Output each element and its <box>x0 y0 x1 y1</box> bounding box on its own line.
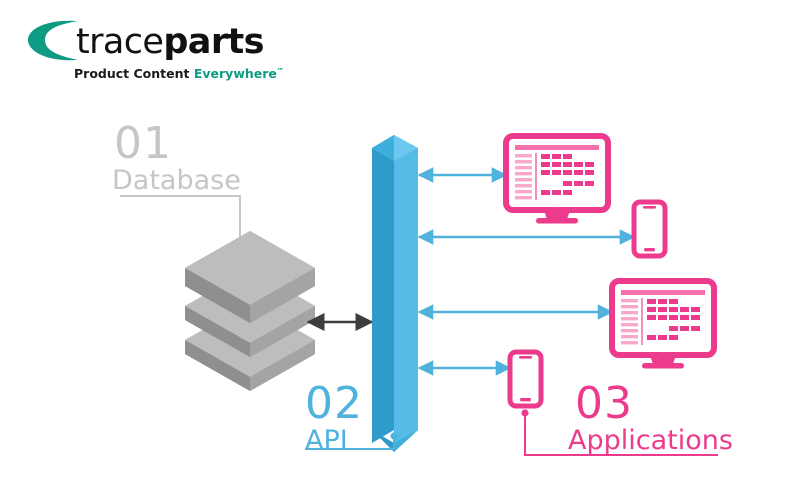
callout-applications <box>521 409 718 455</box>
database-stack-icon <box>185 231 315 391</box>
phone-top-icon <box>634 202 665 256</box>
monitor-bottom-icon <box>612 281 714 369</box>
api-pillar-icon <box>372 135 418 452</box>
diagram-canvas: traceparts Product Content Everywhere™ 0… <box>0 0 795 491</box>
diagram-artwork <box>0 0 795 491</box>
phone-bottom-icon <box>510 352 541 406</box>
monitor-top-icon <box>506 136 608 224</box>
